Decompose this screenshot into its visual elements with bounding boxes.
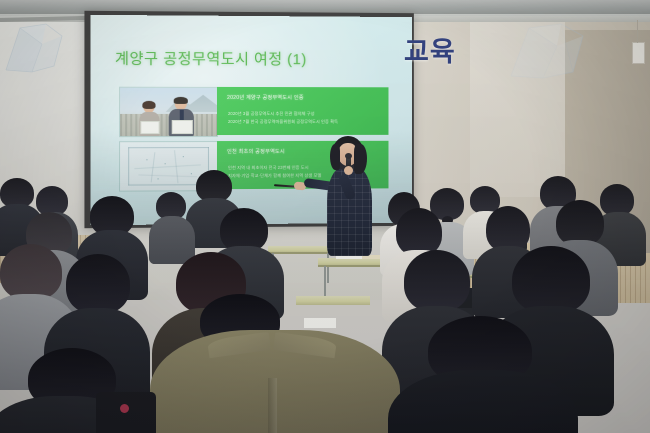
crystal-graphic-icon: [2, 22, 78, 74]
lecture-hall-photo: 계양구 공정무역도시 여정 (1): [0, 0, 650, 433]
slide-title: 계양구 공정무역도시 여정 (1): [115, 47, 307, 69]
bag-logo-icon: [120, 404, 129, 413]
desk-leg: [324, 266, 326, 300]
slide-text-block: 2020년 계양구 공정무역도시 인증 2020년 3월 공정무역도시 추진 민…: [217, 87, 389, 135]
wall-sign-education: 교육: [404, 30, 456, 69]
jacket-center-pleat: [268, 378, 277, 433]
presenter-hand-right: [344, 166, 353, 175]
slide-block-line: 인천 지역 내 최초이자 전국 23번째 인증 도시: [228, 165, 309, 171]
slide-block-line: 2020년 7월 한국 공정무역마을위원회 공정무역도시 인증 획득: [228, 119, 338, 125]
signing-ceremony-photo: [119, 87, 218, 137]
wall-fixture-cord: [637, 20, 638, 43]
slide-row: 2020년 계양구 공정무역도시 인증 2020년 3월 공정무역도시 추진 민…: [119, 87, 388, 135]
presenter: [318, 136, 384, 256]
presenter-hair-side: [330, 144, 340, 170]
microphone-head: [345, 153, 352, 159]
slide-block-heading: 2020년 계양구 공정무역도시 인증: [227, 94, 304, 101]
wall-panel: [470, 22, 565, 197]
handout-paper: [304, 318, 336, 328]
classroom-desk: [296, 296, 370, 305]
presenter-hair-side: [354, 144, 367, 174]
wall-fixture: [632, 42, 645, 64]
slide-block-line: 2020년 3월 공정무역도시 추진 민관 협의체 구성: [228, 111, 315, 117]
slide-block-heading: 인천 최초의 공정무역도시: [227, 148, 285, 155]
